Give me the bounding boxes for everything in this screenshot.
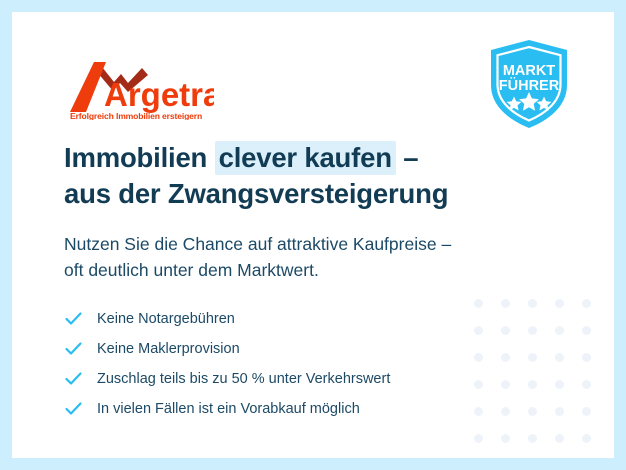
banner-card: Argetra Erfolgreich Immobilien ersteiger… <box>12 12 614 458</box>
decoration-dot <box>582 407 591 416</box>
decoration-dot <box>582 434 591 443</box>
list-item: In vielen Fällen ist ein Vorabkauf mögli… <box>64 399 574 418</box>
list-item-label: Keine Maklerprovision <box>97 340 240 358</box>
check-icon <box>64 309 83 328</box>
decoration-dot <box>501 434 510 443</box>
subheadline-line1: Nutzen Sie die Chance auf attraktive Kau… <box>64 234 451 254</box>
decoration-dot <box>582 326 591 335</box>
decoration-dot <box>474 434 483 443</box>
page-title: Immobilien clever kaufen – aus der Zwang… <box>64 140 574 213</box>
check-icon <box>64 399 83 418</box>
badge-line2: FÜHRER <box>499 77 560 94</box>
check-icon <box>64 369 83 388</box>
list-item-label: Keine Notargebühren <box>97 310 235 328</box>
argetra-logo[interactable]: Argetra Erfolgreich Immobilien ersteiger… <box>64 50 214 120</box>
content-column: Immobilien clever kaufen – aus der Zwang… <box>64 140 574 418</box>
list-item: Keine Maklerprovision <box>64 339 574 358</box>
decoration-dot <box>582 299 591 308</box>
list-item: Keine Notargebühren <box>64 309 574 328</box>
decoration-dot <box>582 353 591 362</box>
subheadline: Nutzen Sie die Chance auf attraktive Kau… <box>64 231 574 284</box>
headline-line2: aus der Zwangsversteigerung <box>64 178 448 209</box>
headline-highlight: clever kaufen <box>215 141 396 175</box>
headline-text-after: – <box>396 142 419 173</box>
headline-line1: Immobilien clever kaufen – <box>64 141 418 175</box>
list-item-label: Zuschlag teils bis zu 50 % unter Verkehr… <box>97 370 390 388</box>
benefit-list: Keine Notargebühren Keine Maklerprovisio… <box>64 309 574 418</box>
check-icon <box>64 339 83 358</box>
list-item-label: In vielen Fällen ist ein Vorabkauf mögli… <box>97 400 360 418</box>
promo-banner: Argetra Erfolgreich Immobilien ersteiger… <box>0 0 626 470</box>
decoration-dot <box>582 380 591 389</box>
svg-text:Argetra: Argetra <box>104 76 214 113</box>
decoration-dot <box>528 434 537 443</box>
badge-line1: MARKT <box>503 63 555 79</box>
svg-text:Erfolgreich Immobilien ersteig: Erfolgreich Immobilien ersteigern <box>70 111 202 120</box>
subheadline-line2: oft deutlich unter dem Marktwert. <box>64 260 319 280</box>
marktfuehrer-badge: MARKT FÜHRER <box>486 38 572 130</box>
headline-text-before: Immobilien <box>64 142 215 173</box>
decoration-dot <box>555 434 564 443</box>
list-item: Zuschlag teils bis zu 50 % unter Verkehr… <box>64 369 574 388</box>
